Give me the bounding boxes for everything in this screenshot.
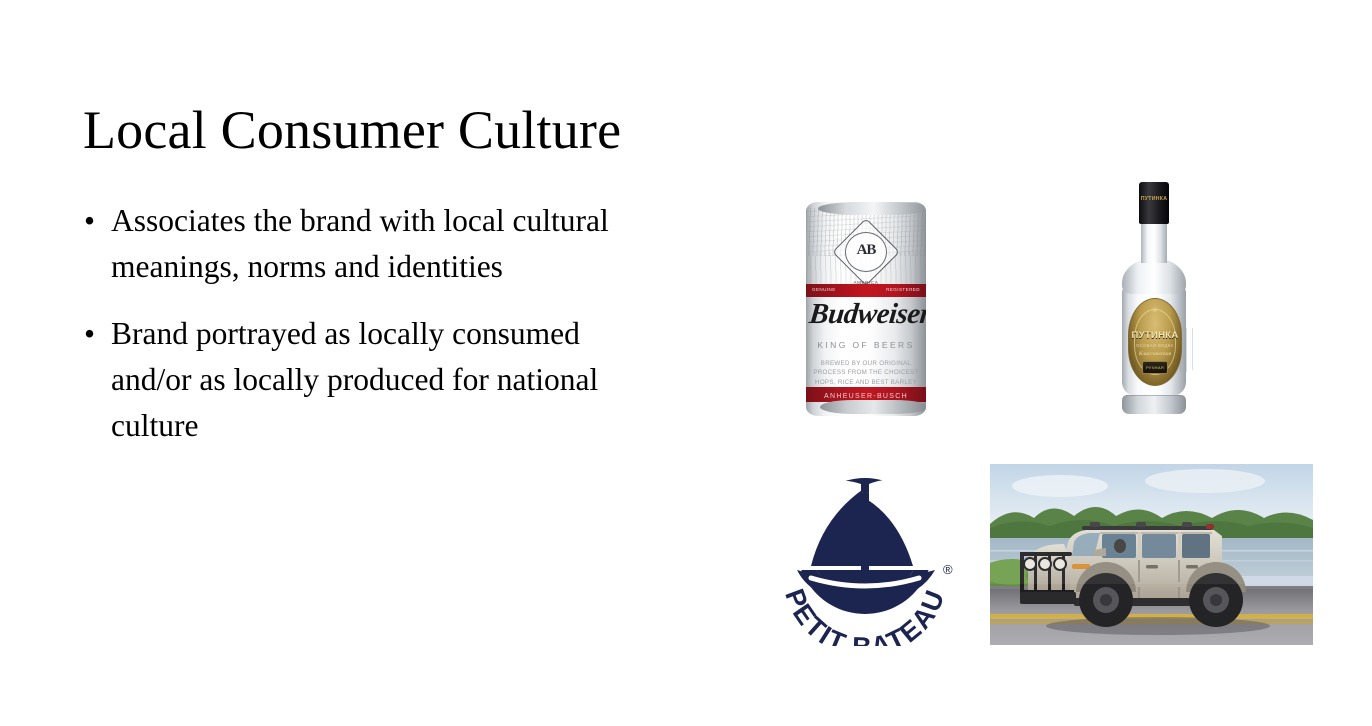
crown-icon: ♕	[1152, 306, 1158, 314]
bottle-shoulder	[1122, 258, 1186, 294]
bullet-item-2: • Brand portrayed as locally consumed an…	[78, 311, 668, 448]
anheuser-busch-text: ANHEUSER-BUSCH	[806, 393, 926, 400]
king-of-beers-text: KING OF BEERS	[806, 340, 926, 350]
bottle-cap-text: ПУТИНКА	[1139, 196, 1169, 202]
bottle-label: ♕ ПУТИНКА ОСОБАЯ ВОДКА Классическая РУЧН…	[1128, 298, 1182, 386]
slide-canvas: Local Consumer Culture • Associates the …	[0, 0, 1372, 726]
can-band-legend: GENUINE REGISTERED	[806, 285, 926, 296]
bullet-marker-icon: •	[84, 198, 95, 244]
budweiser-wordmark: Budweiser	[806, 298, 926, 331]
can-body: AB GENUINE REGISTERED AMERICA Budweiser …	[806, 202, 926, 416]
bullet-item-1: • Associates the brand with local cultur…	[78, 198, 668, 289]
budweiser-can-image: AB GENUINE REGISTERED AMERICA Budweiser …	[798, 198, 934, 420]
can-base	[820, 400, 926, 414]
putinka-vodka-bottle-image: ПУТИНКА ♕ ПУТИНКА ОСОБАЯ ВОДКА Классичес…	[1108, 182, 1200, 414]
bottle-neck	[1141, 223, 1167, 263]
bullet-text-2: Brand portrayed as locally consumed and/…	[111, 311, 668, 448]
bullet-text-1: Associates the brand with local cultural…	[111, 198, 668, 289]
can-lid	[818, 202, 926, 215]
label-script-text: Классическая	[1129, 351, 1181, 357]
hummer-suv-photo	[990, 464, 1313, 645]
label-badge: РУЧНАЯ	[1142, 361, 1168, 374]
putinka-wordmark: ПУТИНКА	[1129, 330, 1181, 341]
bullet-list: • Associates the brand with local cultur…	[78, 198, 668, 470]
band-left-text: GENUINE	[812, 287, 836, 296]
label-subtitle: ОСОБАЯ ВОДКА	[1129, 343, 1181, 348]
slide-title: Local Consumer Culture	[83, 100, 763, 160]
bottle-base	[1122, 395, 1186, 414]
bullet-marker-icon: •	[84, 311, 95, 357]
bottle-cap	[1139, 182, 1169, 224]
petit-bateau-logo-image: PETIT BATEAU ®	[767, 470, 963, 646]
registered-trademark-icon: ®	[943, 562, 953, 577]
crest-america-text: AMERICA	[853, 280, 878, 285]
ab-monogram: AB	[857, 242, 876, 259]
band-right-text: REGISTERED	[886, 287, 920, 296]
